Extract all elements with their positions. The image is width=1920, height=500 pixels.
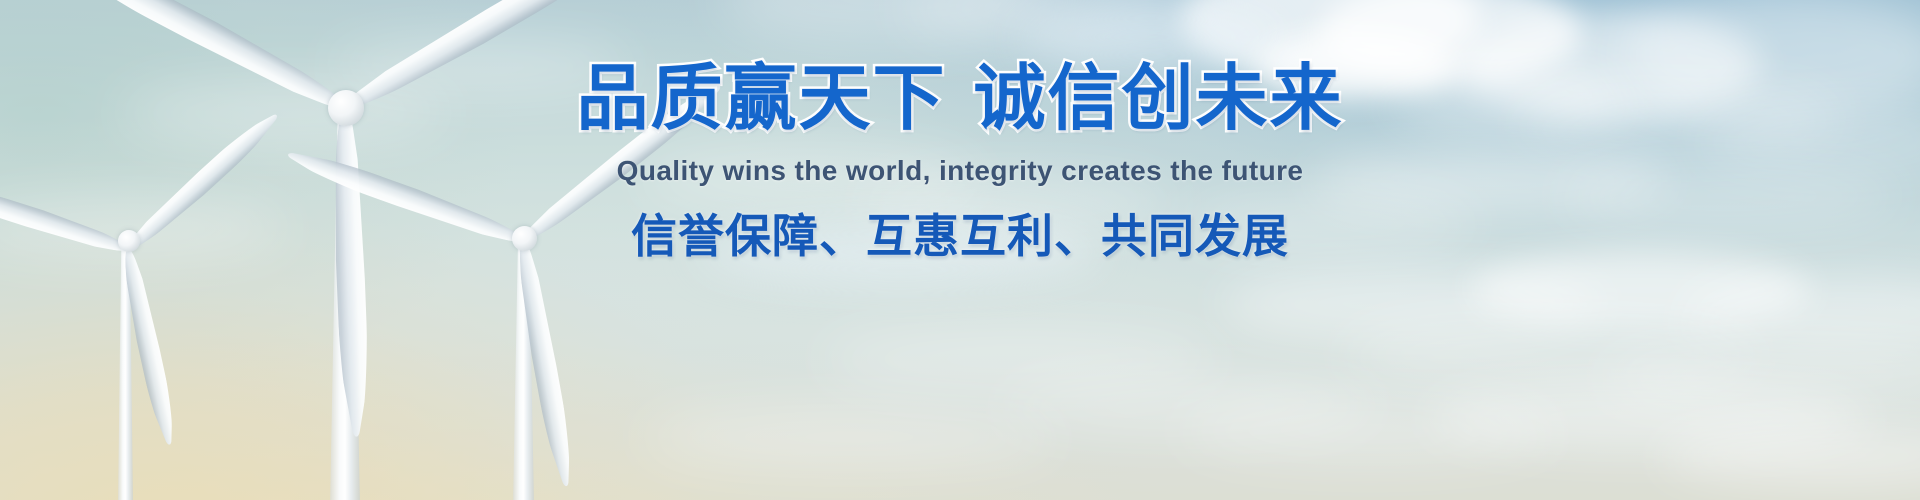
turbine-blade	[121, 107, 284, 257]
turbine-blade	[0, 177, 131, 260]
turbine-blade	[47, 0, 352, 120]
wind-turbine-group	[0, 0, 1920, 500]
turbine-hub	[118, 230, 140, 252]
turbine-blade	[284, 143, 527, 251]
turbine-blade	[516, 77, 728, 250]
turbine-hub	[512, 226, 537, 251]
turbine-hub	[328, 90, 364, 126]
promo-banner: 品质赢天下 诚信创未来 Quality wins the world, inte…	[0, 0, 1920, 500]
turbine-blade	[338, 0, 639, 120]
